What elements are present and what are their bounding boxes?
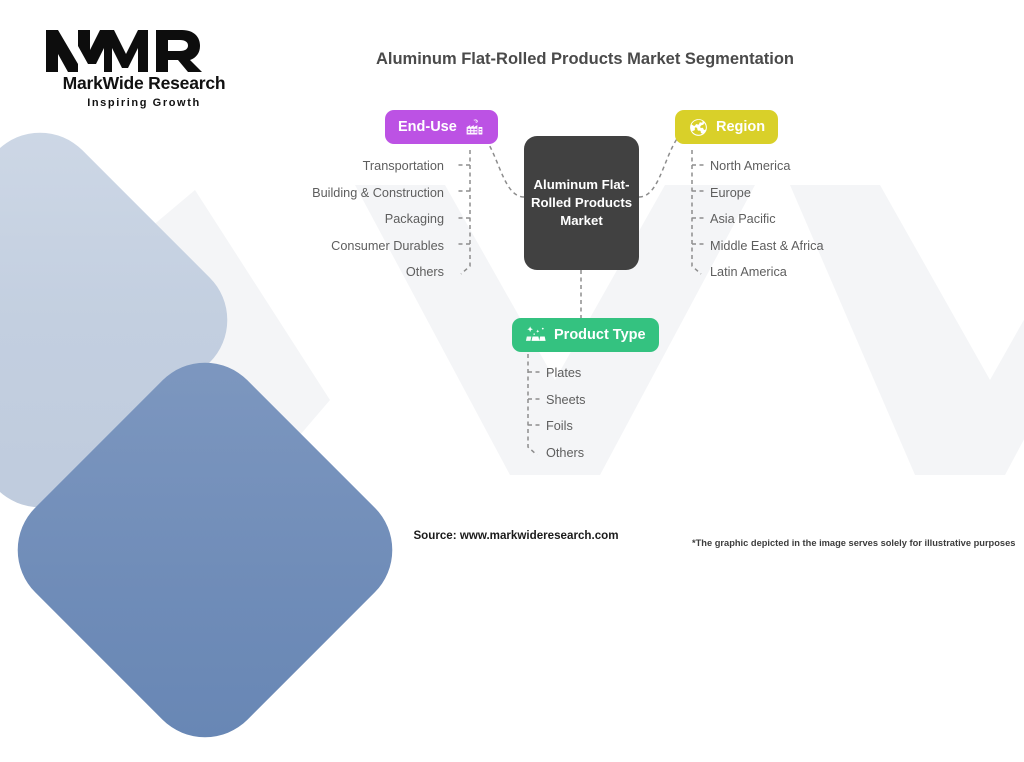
list-item[interactable]: Consumer Durables [0,233,444,260]
list-item[interactable]: Europe [710,180,824,207]
branch-items-product-type: Plates Sheets Foils Others [546,360,586,466]
logo-tagline: Inspiring Growth [44,97,244,109]
center-node[interactable]: Aluminum Flat-Rolled Products Market [524,136,639,270]
list-item[interactable]: Transportation [0,153,444,180]
page-title: Aluminum Flat-Rolled Products Market Seg… [0,50,1024,69]
disclaimer-label: *The graphic depicted in the image serve… [692,538,1024,548]
list-item[interactable]: Plates [546,360,586,387]
branch-label-product-type: Product Type [554,327,646,343]
list-item[interactable]: Middle East & Africa [710,233,824,260]
list-item[interactable]: Asia Pacific [710,206,824,233]
product-stack-icon [525,324,547,346]
list-item[interactable]: Others [546,440,586,467]
branch-label-region: Region [716,119,765,135]
logo-company-name: MarkWide Research [44,73,244,94]
branch-badge-region[interactable]: Region [675,110,778,144]
branch-items-region: North America Europe Asia Pacific Middle… [710,153,824,286]
branch-badge-end-use[interactable]: End-Use [385,110,498,144]
list-item[interactable]: Sheets [546,387,586,414]
list-item[interactable]: Foils [546,413,586,440]
factory-icon [464,117,485,138]
list-item[interactable]: Packaging [0,206,444,233]
branch-items-end-use: Transportation Building & Construction P… [0,153,460,286]
list-item[interactable]: Latin America [710,259,824,286]
globe-icon [688,117,709,138]
branch-label-end-use: End-Use [398,119,457,135]
list-item[interactable]: Building & Construction [0,180,444,207]
list-item[interactable]: North America [710,153,824,180]
branch-badge-product-type[interactable]: Product Type [512,318,659,352]
list-item[interactable]: Others [0,259,444,286]
